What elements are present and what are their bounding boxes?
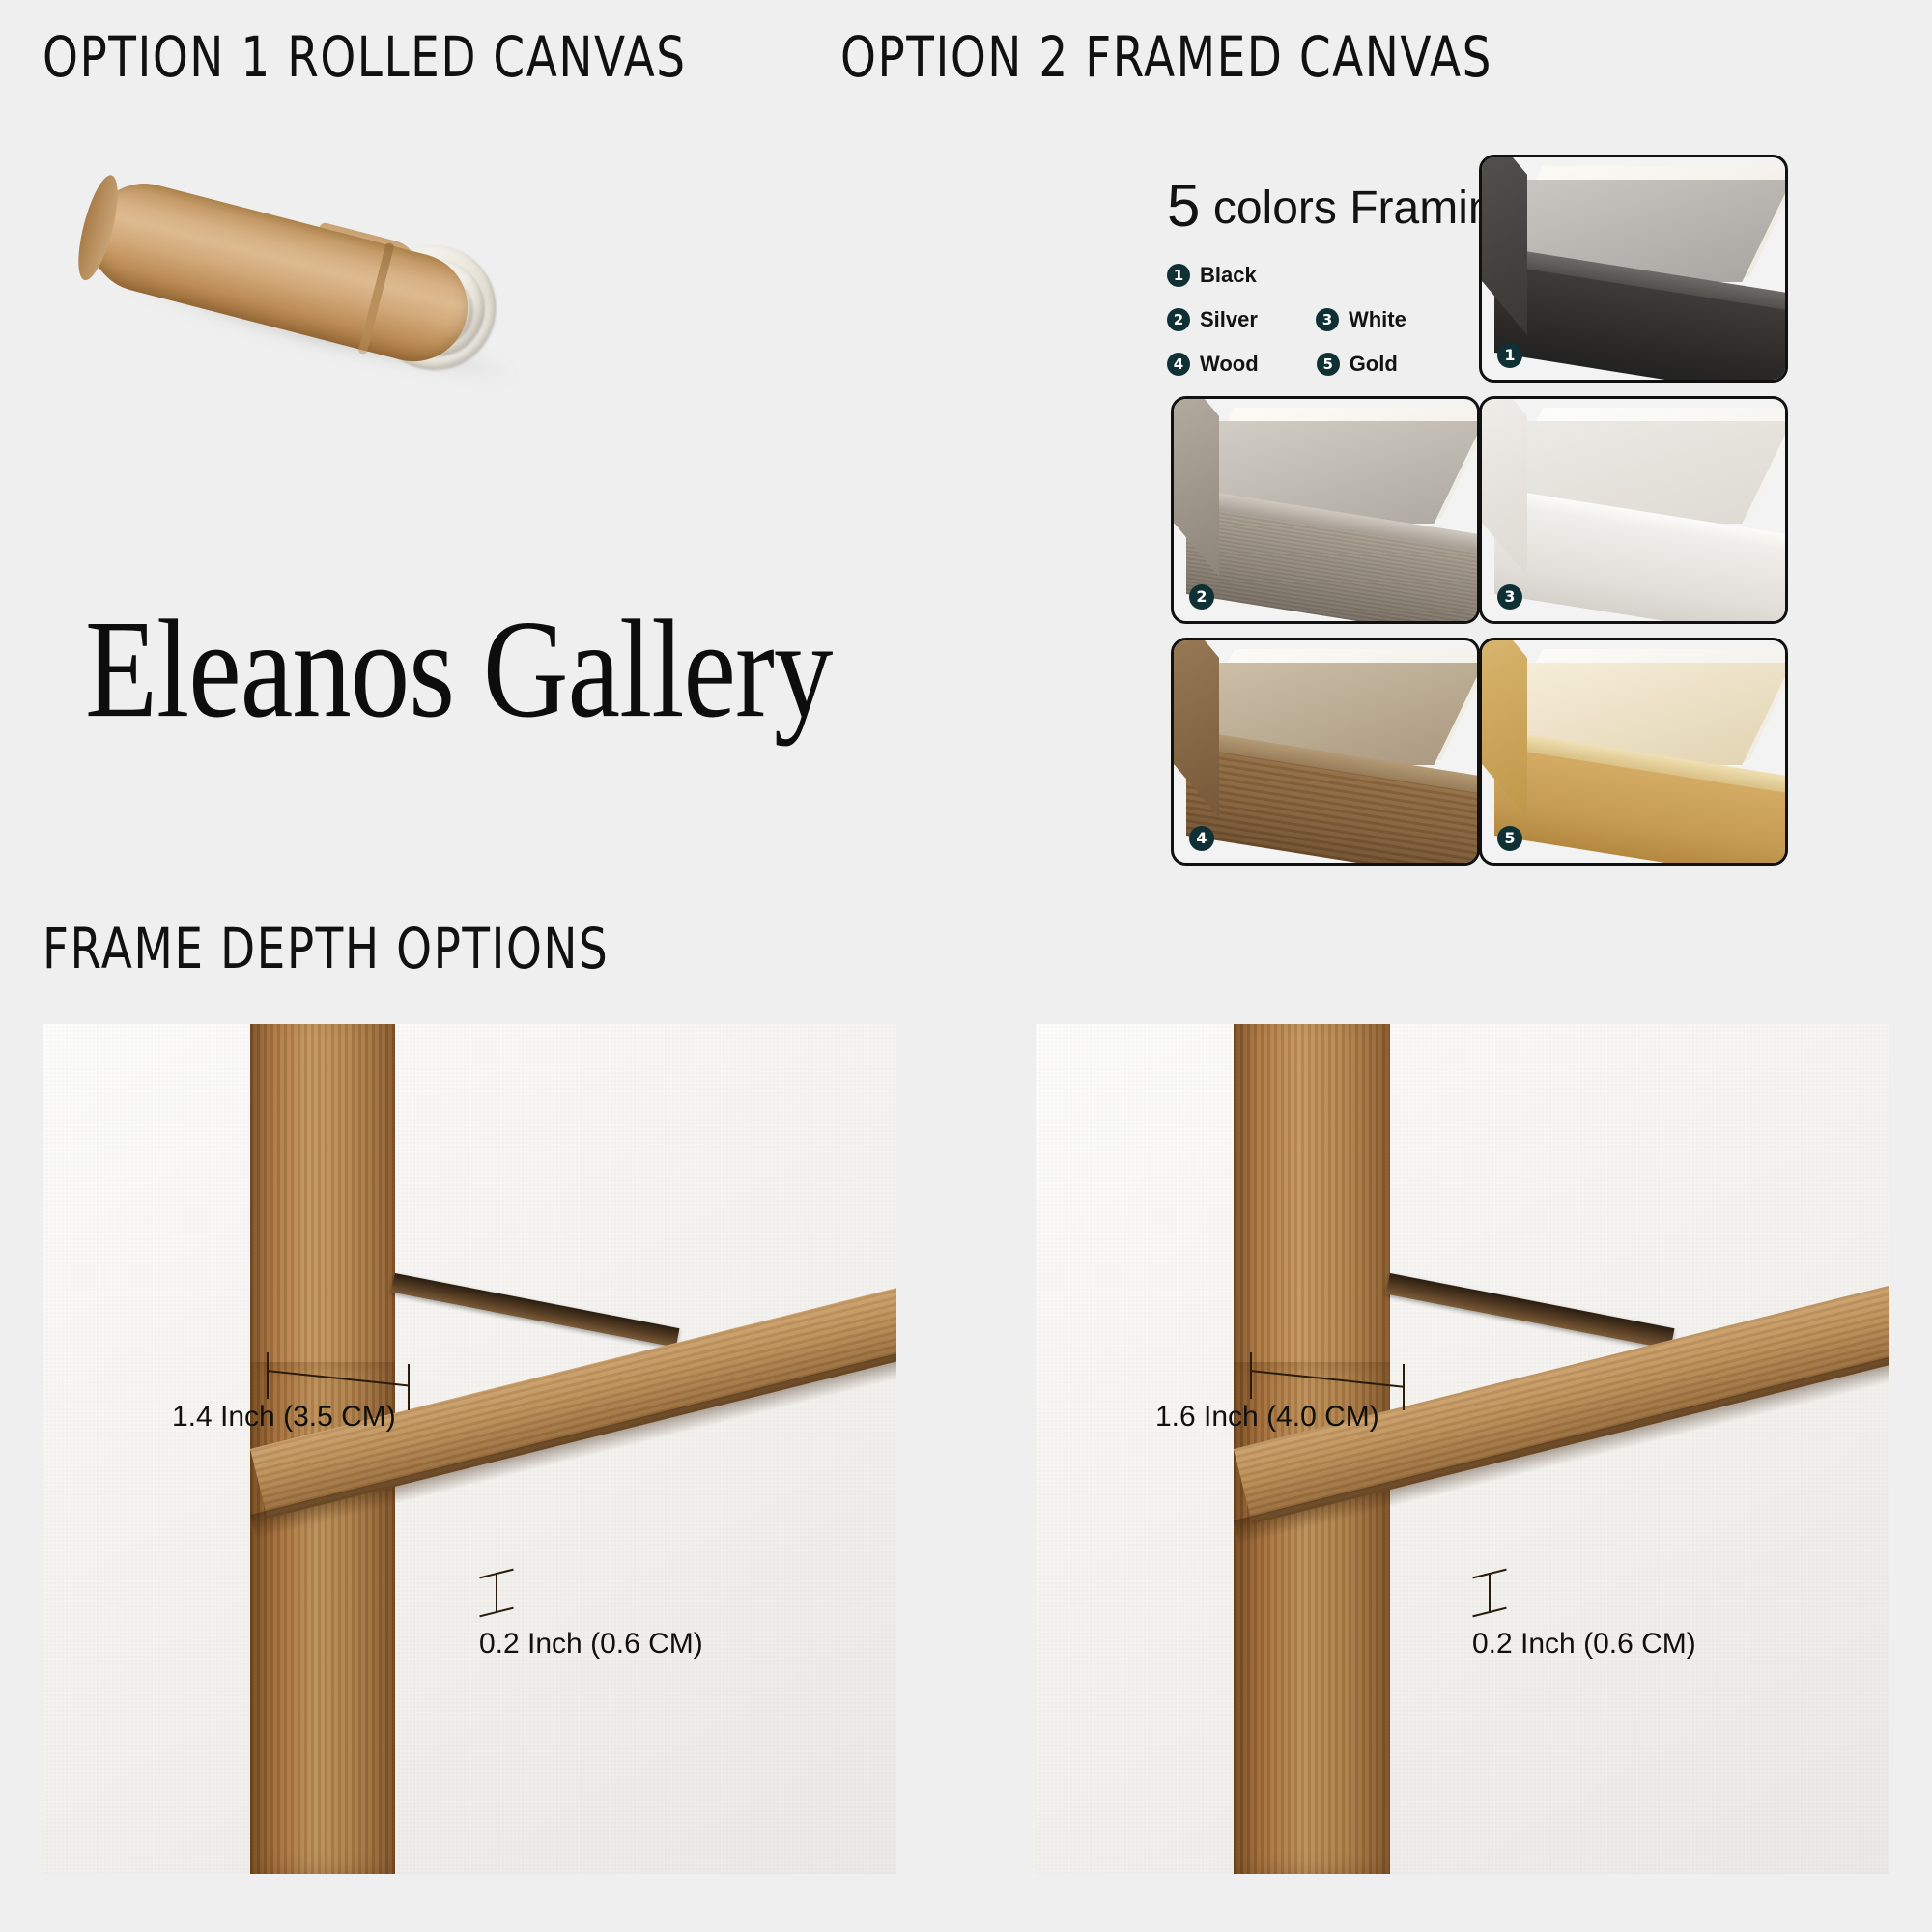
legend-item-gold: 5 Gold	[1317, 352, 1398, 377]
legend-label-white: White	[1349, 307, 1406, 332]
swatch-number-5: 5	[1497, 826, 1522, 851]
option-2-heading: OPTION 2 FRAMED CANVAS	[840, 24, 1492, 90]
legend-row-1: 1 Black	[1167, 263, 1457, 288]
frame-upright-2	[1234, 1024, 1390, 1391]
framing-count: 5	[1167, 173, 1200, 240]
frame-depth-label-1: 1.4 Inch (3.5 CM)	[172, 1401, 396, 1434]
legend-label-gold: Gold	[1350, 352, 1398, 377]
swatch-number-4: 4	[1189, 826, 1214, 851]
edge-tick-bar-1	[496, 1573, 497, 1613]
legend-label-wood: Wood	[1200, 352, 1259, 377]
frame-swatch-gold[interactable]: 5	[1479, 638, 1788, 866]
canvas-edge-label-2: 0.2 Inch (0.6 CM)	[1472, 1628, 1696, 1661]
swatch-number-1: 1	[1497, 343, 1522, 368]
frame-depth-photo-1: 1.4 Inch (3.5 CM) 0.2 Inch (0.6 CM)	[43, 1024, 896, 1874]
brand-wordmark: Eleanos Gallery	[85, 587, 832, 750]
legend-row-2: 2 Silver 3 White	[1167, 307, 1457, 332]
infographic-root: OPTION 1 ROLLED CANVAS OPTION 2 FRAMED C…	[0, 0, 1932, 1932]
rolled-canvas-tube-image	[82, 145, 584, 386]
frame-corner-photo-wood	[1174, 640, 1477, 863]
badge-5: 5	[1317, 353, 1340, 376]
legend-label-silver: Silver	[1200, 307, 1258, 332]
framing-color-legend: 1 Black 2 Silver 3 White 4 Wood 5 Gold	[1167, 263, 1457, 396]
badge-4: 4	[1167, 353, 1190, 376]
framing-colors-heading: 5 colors Framing	[1167, 172, 1520, 241]
swatch-number-3: 3	[1497, 584, 1522, 610]
frame-corner-photo-white	[1482, 399, 1785, 621]
badge-2: 2	[1167, 308, 1190, 331]
frame-upright-1	[250, 1024, 395, 1391]
legend-item-wood: 4 Wood	[1167, 352, 1259, 377]
dim-tick-right-2	[1403, 1364, 1405, 1410]
badge-1: 1	[1167, 264, 1190, 287]
frame-swatch-silver[interactable]: 2	[1171, 396, 1480, 624]
frame-depth-heading: FRAME DEPTH OPTIONS	[43, 916, 609, 981]
frame-corner-photo-black	[1482, 157, 1785, 380]
frame-corner-photo-gold	[1482, 640, 1785, 863]
canvas-edge-label-1: 0.2 Inch (0.6 CM)	[479, 1628, 703, 1661]
badge-3: 3	[1316, 308, 1339, 331]
swatch-number-2: 2	[1189, 584, 1214, 610]
legend-label-black: Black	[1200, 263, 1257, 288]
dim-tick-left-1	[267, 1352, 269, 1399]
edge-tick-bar-2	[1489, 1573, 1491, 1613]
dim-tick-right-1	[408, 1364, 410, 1410]
legend-item-white: 3 White	[1316, 307, 1406, 332]
frame-swatch-wood[interactable]: 4	[1171, 638, 1480, 866]
frame-depth-label-2: 1.6 Inch (4.0 CM)	[1155, 1401, 1379, 1434]
framing-heading-rest: colors Framing	[1213, 183, 1520, 234]
option-1-heading: OPTION 1 ROLLED CANVAS	[43, 24, 687, 90]
frame-swatch-white[interactable]: 3	[1479, 396, 1788, 624]
legend-item-black: 1 Black	[1167, 263, 1257, 288]
frame-depth-photo-2: 1.6 Inch (4.0 CM) 0.2 Inch (0.6 CM)	[1036, 1024, 1889, 1874]
legend-item-silver: 2 Silver	[1167, 307, 1258, 332]
dim-tick-left-2	[1250, 1352, 1252, 1399]
kraft-tube-body	[78, 172, 479, 374]
frame-swatch-black[interactable]: 1	[1479, 155, 1788, 383]
frame-corner-photo-silver	[1174, 399, 1477, 621]
legend-row-3: 4 Wood 5 Gold	[1167, 352, 1457, 377]
